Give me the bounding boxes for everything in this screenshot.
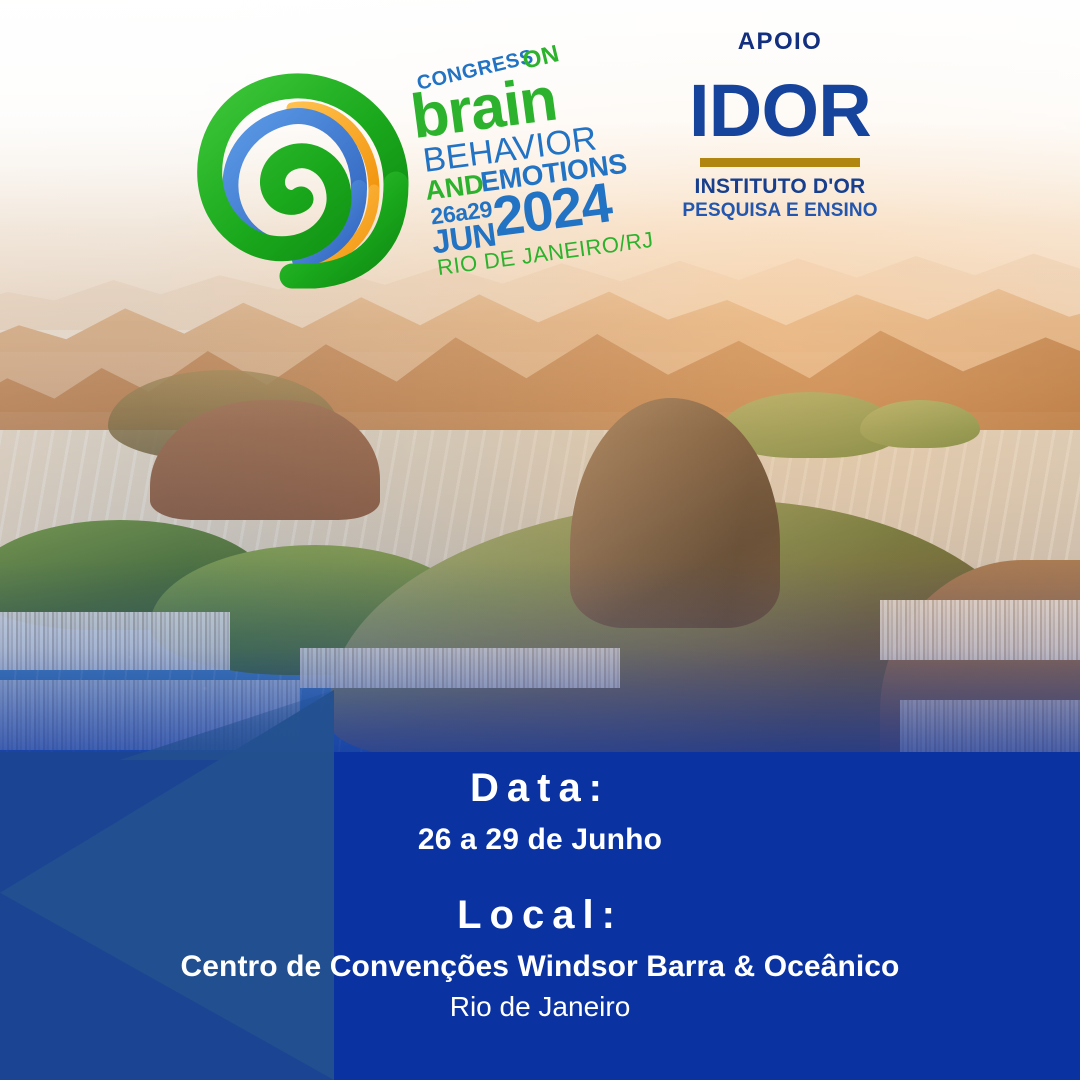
date-value: 26 a 29 de Junho	[418, 823, 662, 857]
spiral-icon	[196, 72, 416, 292]
idor-wordmark: IDOR	[680, 72, 880, 150]
venue-name: Centro de Convenções Windsor Barra & Oce…	[181, 950, 900, 984]
supporter-logo: APOIO IDOR INSTITUTO D'OR PESQUISA E ENS…	[680, 28, 880, 208]
idor-divider	[700, 158, 860, 167]
venue-label: Local:	[457, 893, 623, 938]
idor-name-line2: PESQUISA E ENSINO	[680, 200, 880, 222]
event-details: Data: 26 a 29 de Junho Local: Centro de …	[0, 752, 1080, 1080]
congress-wordmark: CONGRESS ON brain BEHAVIOR AND EMOTIONS …	[402, 35, 618, 270]
venue-city: Rio de Janeiro	[450, 991, 631, 1023]
congress-logo: CONGRESS ON brain BEHAVIOR AND EMOTIONS …	[190, 58, 590, 273]
idor-name-line1: INSTITUTO D'OR	[680, 175, 880, 199]
apoio-label: APOIO	[680, 28, 880, 56]
date-label: Data:	[470, 766, 610, 811]
event-poster: Data: 26 a 29 de Junho Local: Centro de …	[0, 0, 1080, 1080]
